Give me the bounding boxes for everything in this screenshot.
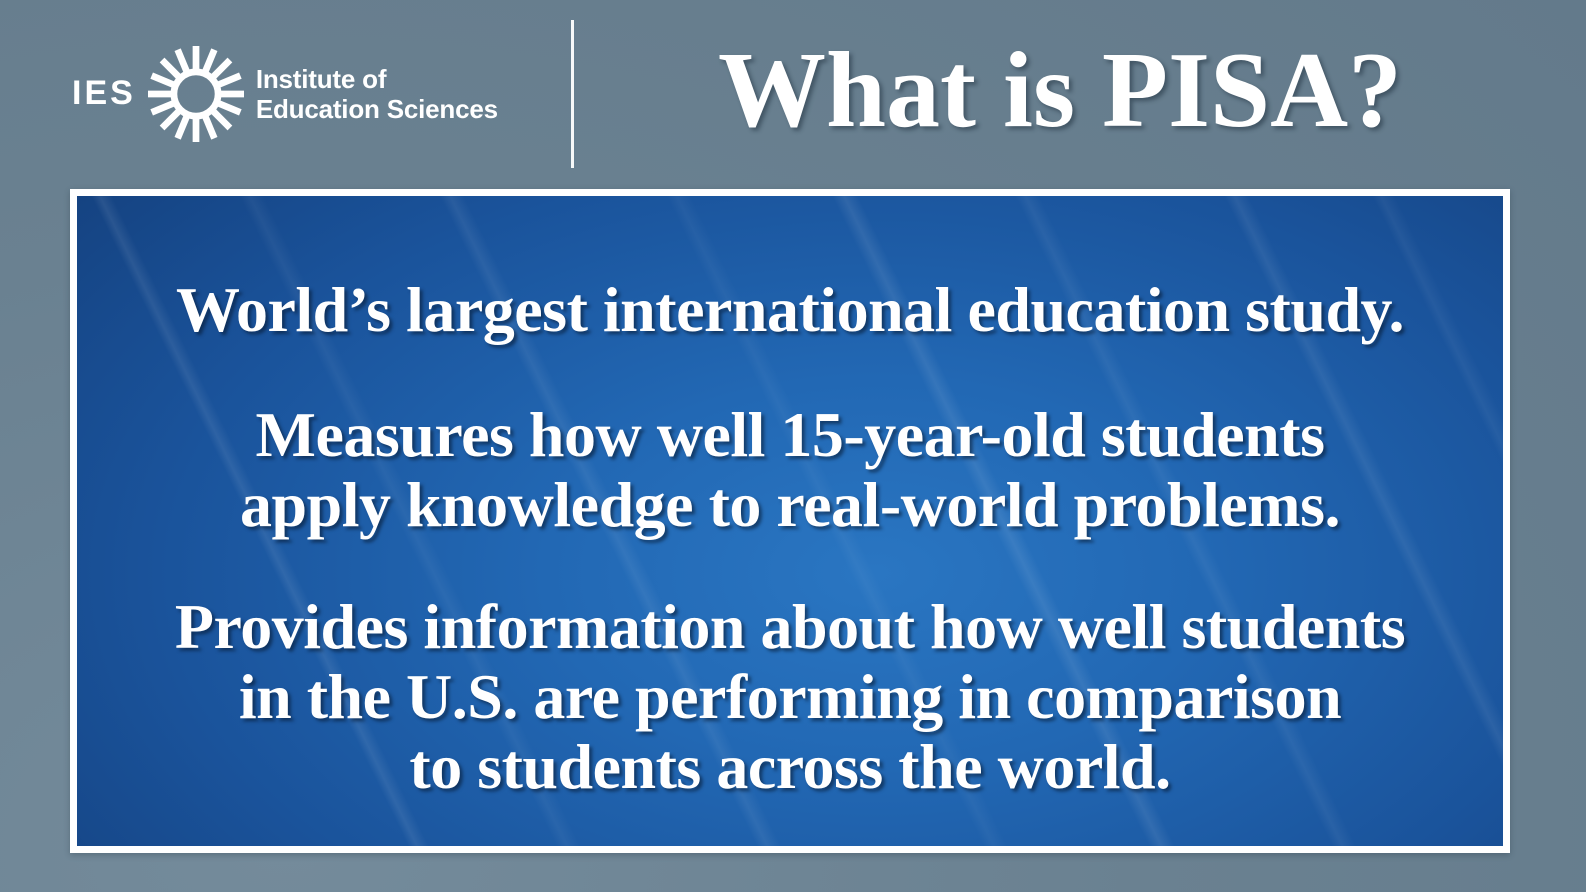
statement-3: Provides information about how well stud… [175,592,1405,802]
page-title: What is PISA? [620,16,1500,166]
statement-1: World’s largest international education … [176,276,1404,344]
slide: IES [0,0,1586,892]
content-panel: World’s largest international education … [77,196,1503,846]
panel-content: World’s largest international education … [77,196,1503,846]
sunburst-icon [148,46,244,142]
ies-abbreviation: IES [72,76,136,112]
ies-logo-name: Institute of Education Sciences [256,64,498,124]
header-divider [571,20,574,168]
content-panel-frame: World’s largest international education … [70,189,1510,853]
ies-logo: IES [72,44,498,144]
slide-header: IES [0,0,1586,186]
statement-2: Measures how well 15-year-old students a… [240,400,1340,540]
